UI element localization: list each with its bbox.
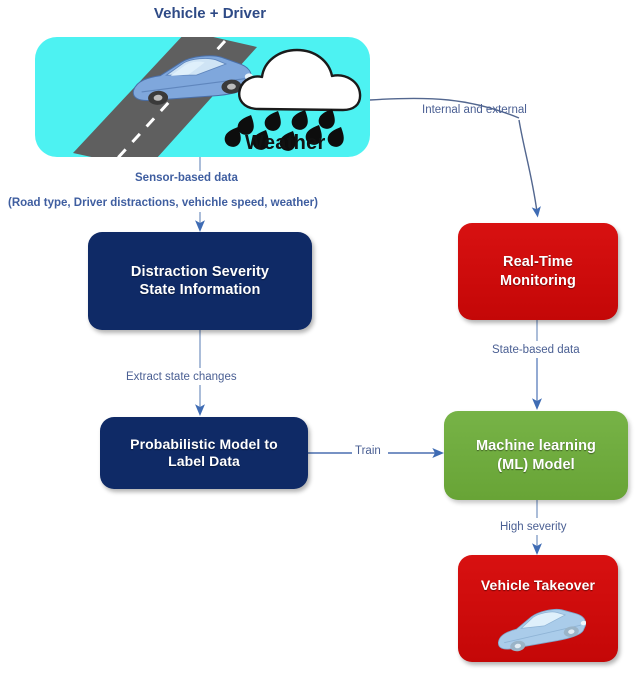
- node-label-line-1: Vehicle Takeover: [481, 577, 595, 595]
- edge-label-sensor-based-data-detail: (Road type, Driver distractions, vehichl…: [8, 197, 318, 209]
- node-vehicle-takeover[interactable]: Vehicle Takeover: [458, 555, 618, 662]
- edge-label-high-severity: High severity: [500, 521, 566, 533]
- node-label-line-2: Label Data: [168, 453, 240, 471]
- cloud-icon: [239, 50, 360, 110]
- node-probabilistic-model-to-label-data[interactable]: Probabilistic Model to Label Data: [100, 417, 308, 489]
- node-machine-learning-ml-model[interactable]: Machine learning (ML) Model: [444, 411, 628, 500]
- edge-label-state-based-data: State-based data: [492, 344, 580, 356]
- node-label-line-2: State Information: [140, 281, 261, 299]
- node-label-line-1: Probabilistic Model to: [130, 436, 278, 454]
- node-label-line-2: Monitoring: [500, 272, 576, 290]
- edge-label-sensor-based-data: Sensor-based data: [135, 172, 238, 184]
- weather-label: Weather: [245, 132, 326, 155]
- diagram-canvas: Vehicle + Driver Weather Sensor-based da…: [0, 0, 640, 674]
- edge-label-extract-state-changes: Extract state changes: [126, 371, 237, 383]
- node-label-line-1: Real-Time: [503, 253, 573, 271]
- node-label-line-1: Distraction Severity: [131, 263, 269, 281]
- node-label-line-1: Machine learning: [476, 437, 596, 455]
- car-icon: [490, 601, 586, 653]
- edge-label-train: Train: [355, 445, 381, 457]
- node-distraction-severity-state-information[interactable]: Distraction Severity State Information: [88, 232, 312, 330]
- scene-title: Vehicle + Driver: [120, 5, 300, 22]
- node-label-line-2: (ML) Model: [497, 456, 575, 474]
- edge-label-internal-and-external: Internal and external: [422, 104, 527, 116]
- node-real-time-monitoring[interactable]: Real-Time Monitoring: [458, 223, 618, 320]
